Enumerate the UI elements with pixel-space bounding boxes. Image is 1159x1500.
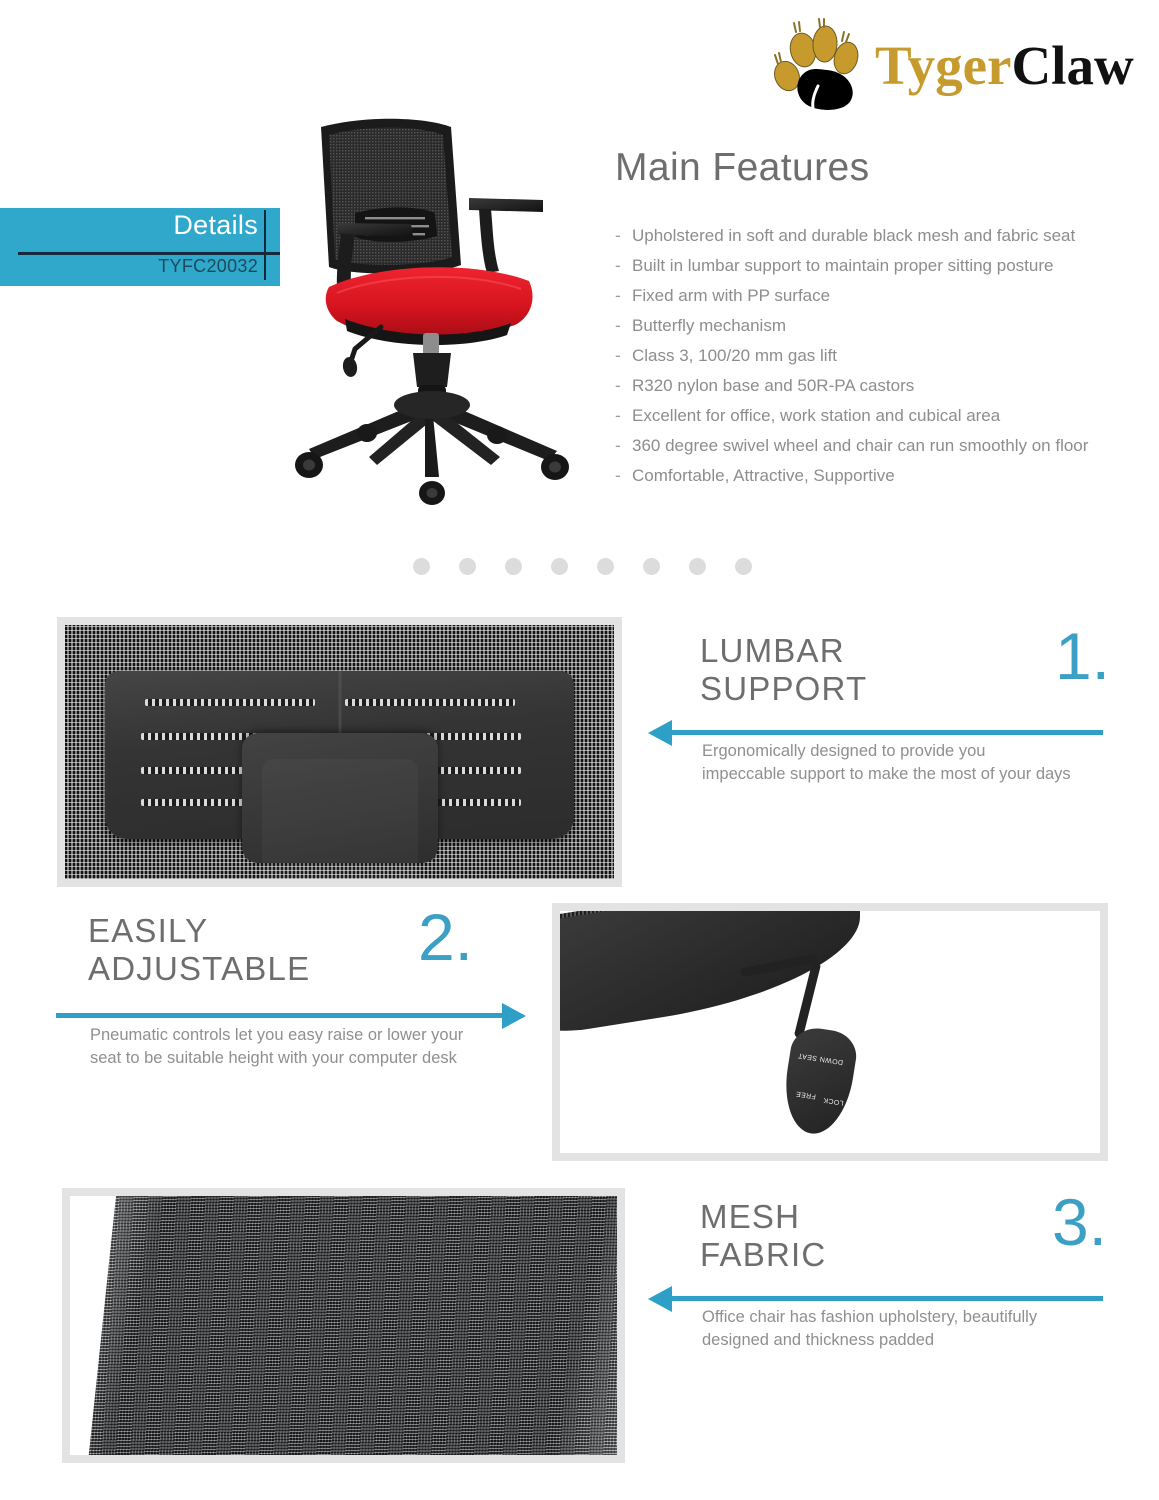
lever-label-free: FREE: [795, 1090, 816, 1100]
lever-knob[interactable]: FREE LOCK SEAT DOWN: [778, 1024, 860, 1138]
feature-item: Excellent for office, work station and c…: [615, 401, 1155, 431]
carousel-dot[interactable]: [597, 558, 614, 575]
callout-heading-line1: LUMBAR: [700, 632, 867, 670]
main-features-title: Main Features: [615, 145, 1155, 191]
callout-heading: MESH FABRIC: [700, 1198, 826, 1274]
callout-heading: EASILY ADJUSTABLE: [88, 912, 310, 988]
hero-chair-image: [285, 105, 575, 515]
callout-number: 1.: [1055, 623, 1110, 689]
carousel-dot[interactable]: [643, 558, 660, 575]
feature-item: Comfortable, Attractive, Supportive: [615, 461, 1155, 491]
lever-label-lock: LOCK: [823, 1096, 845, 1106]
brand-name-secondary: Claw: [1011, 35, 1133, 96]
brand-logo: TygerClaw: [765, 18, 1140, 110]
callout-body: Office chair has fashion upholstery, bea…: [702, 1306, 1062, 1352]
callout-heading-line2: ADJUSTABLE: [88, 950, 310, 988]
lumbar-support-photo: [57, 617, 622, 887]
feature-item: Built in lumbar support to maintain prop…: [615, 251, 1155, 281]
carousel-dot[interactable]: [505, 558, 522, 575]
mesh-fabric-photo: [62, 1188, 625, 1463]
arrow-line: [56, 1013, 504, 1018]
arrow-head-icon: [648, 720, 672, 746]
main-features-section: Main Features Upholstered in soft and du…: [615, 145, 1155, 491]
lumbar-back-plate: [242, 733, 438, 863]
callout-heading-line1: MESH: [700, 1198, 826, 1236]
arrow-line: [670, 1296, 1103, 1301]
paw-print-icon: [765, 18, 870, 110]
feature-item: Upholstered in soft and durable black me…: [615, 221, 1155, 251]
carousel-dot[interactable]: [735, 558, 752, 575]
details-tab: Details TYFC20032: [0, 208, 280, 286]
carousel-dot[interactable]: [689, 558, 706, 575]
callout-heading-line1: EASILY: [88, 912, 310, 950]
arrow-line: [670, 730, 1103, 735]
lever-label-seat: SEAT: [797, 1051, 817, 1061]
lever-label-down: DOWN: [819, 1055, 844, 1066]
details-horizontal-rule: [18, 252, 280, 255]
callout-body: Pneumatic controls let you easy raise or…: [90, 1024, 470, 1070]
details-vertical-rule: [264, 210, 266, 280]
callout-heading: LUMBAR SUPPORT: [700, 632, 867, 708]
carousel-dot[interactable]: [413, 558, 430, 575]
feature-item: 360 degree swivel wheel and chair can ru…: [615, 431, 1155, 461]
carousel-dots: [405, 558, 755, 582]
callout-heading-line2: FABRIC: [700, 1236, 826, 1274]
arrow-head-icon: [502, 1003, 526, 1029]
callout-number: 2.: [418, 904, 473, 970]
details-sku: TYFC20032: [158, 256, 258, 277]
feature-item: R320 nylon base and 50R-PA castors: [615, 371, 1155, 401]
carousel-dot[interactable]: [459, 558, 476, 575]
main-features-list: Upholstered in soft and durable black me…: [615, 221, 1155, 491]
callout-body: Ergonomically designed to provide you im…: [702, 740, 1072, 786]
callout-number: 3.: [1052, 1189, 1107, 1255]
feature-item: Butterfly mechanism: [615, 311, 1155, 341]
carousel-dot[interactable]: [551, 558, 568, 575]
feature-item: Fixed arm with PP surface: [615, 281, 1155, 311]
feature-item: Class 3, 100/20 mm gas lift: [615, 341, 1155, 371]
arrow-head-icon: [648, 1286, 672, 1312]
brand-name-primary: Tyger: [875, 35, 1011, 96]
callout-heading-line2: SUPPORT: [700, 670, 867, 708]
details-title: Details: [173, 210, 258, 241]
pneumatic-lever-photo: FREE LOCK SEAT DOWN: [552, 903, 1108, 1161]
